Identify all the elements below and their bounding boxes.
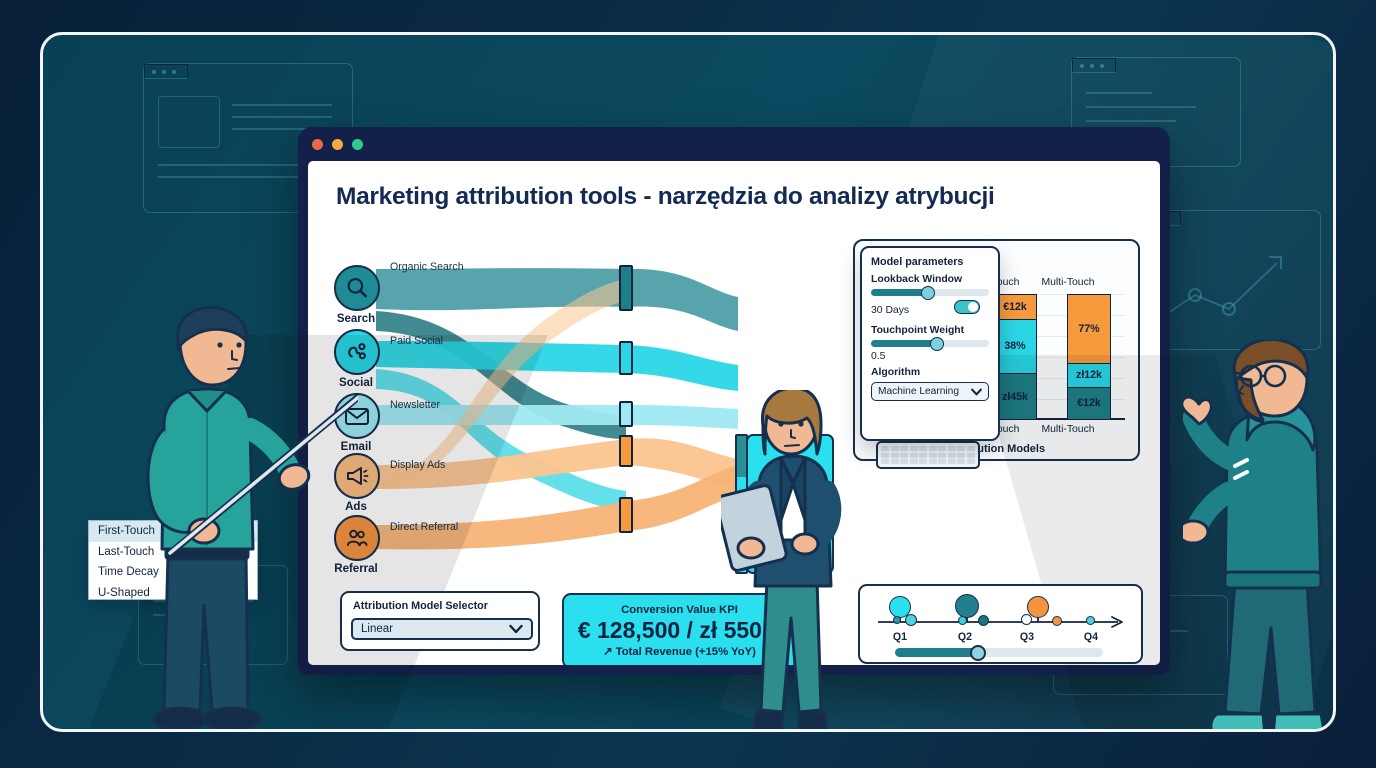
sankey-node-3	[619, 401, 633, 427]
quarterly-timeline-card: Q1 Q2 Q3 Q4	[858, 584, 1143, 664]
algorithm-value: Machine Learning	[878, 386, 959, 397]
weight-slider-knob[interactable]	[930, 337, 944, 351]
attribution-model-selector-title: Attribution Model Selector	[353, 600, 488, 612]
algorithm-label: Algorithm	[871, 367, 989, 378]
magnifier-icon	[344, 275, 370, 301]
timeline-label-q1: Q1	[880, 631, 920, 643]
lookback-window-label: Lookback Window	[871, 274, 989, 285]
sankey-node-1	[619, 265, 633, 311]
lookback-slider-fill	[871, 289, 925, 296]
attribution-model-selector-card: Attribution Model Selector Linear	[340, 591, 540, 651]
page-title: Marketing attribution tools - narzędzia …	[336, 183, 995, 211]
timeline-dot-c[interactable]	[1052, 616, 1062, 626]
timeline-slider-fill	[895, 648, 978, 657]
timeline-slider[interactable]	[895, 648, 1103, 657]
illustration-frame: Marketing attribution tools - narzędzia …	[40, 32, 1336, 732]
weight-slider-fill	[871, 340, 935, 347]
timeline-dot-q2[interactable]	[978, 615, 989, 626]
window-maximize-dot[interactable]	[352, 139, 363, 150]
lookback-toggle[interactable]	[954, 300, 980, 314]
channel-label-organic-search: Organic Search	[390, 261, 464, 273]
algorithm-select[interactable]: Machine Learning	[871, 382, 989, 401]
bar-seg-upper: 77%	[1068, 295, 1110, 363]
timeline-dot-b[interactable]	[958, 616, 967, 625]
attribution-model-value: Linear	[361, 623, 393, 635]
timeline-dot-q4[interactable]	[1086, 616, 1095, 625]
timeline-slider-knob[interactable]	[970, 645, 986, 661]
analyst-figure-right	[1183, 340, 1336, 732]
chevron-down-icon	[509, 624, 523, 634]
bar-seg-upper: €12k	[994, 295, 1036, 319]
lookback-slider-knob[interactable]	[921, 286, 935, 300]
touchpoint-weight-label: Touchpoint Weight	[871, 325, 989, 336]
attribution-model-select[interactable]: Linear	[351, 618, 533, 640]
presenter-figure-left	[108, 305, 358, 732]
model-parameters-title: Model parameters	[871, 256, 989, 268]
timeline-label-q3: Q3	[1007, 631, 1047, 643]
timeline-label-q2: Q2	[945, 631, 985, 643]
window-titlebar	[298, 127, 1170, 163]
timeline-label-q4: Q4	[1071, 631, 1111, 643]
window-close-dot[interactable]	[312, 139, 323, 150]
sankey-node-4	[619, 435, 633, 467]
toggle-knob	[968, 302, 978, 312]
touchpoint-weight-slider[interactable]	[871, 340, 989, 347]
timeline-dot-q3[interactable]	[1021, 614, 1032, 625]
lookback-window-value: 30 Days	[871, 305, 909, 316]
lookback-window-slider[interactable]	[871, 289, 989, 296]
sankey-node-5	[619, 497, 633, 533]
model-parameters-panel: Model parameters Lookback Window 30 Days…	[860, 246, 1000, 441]
timeline-bubble-q2[interactable]	[955, 594, 979, 618]
analyst-figure-center	[721, 390, 871, 732]
window-minimize-dot[interactable]	[332, 139, 343, 150]
chevron-down-icon	[971, 388, 982, 396]
timeline-dot-a[interactable]	[893, 616, 901, 624]
timeline-dot-q1[interactable]	[905, 614, 917, 626]
bar-header-multi-touch: Multi-Touch	[1033, 277, 1103, 288]
sankey-node-2	[619, 341, 633, 375]
keyboard[interactable]	[876, 441, 980, 469]
touchpoint-weight-value: 0.5	[871, 351, 989, 362]
